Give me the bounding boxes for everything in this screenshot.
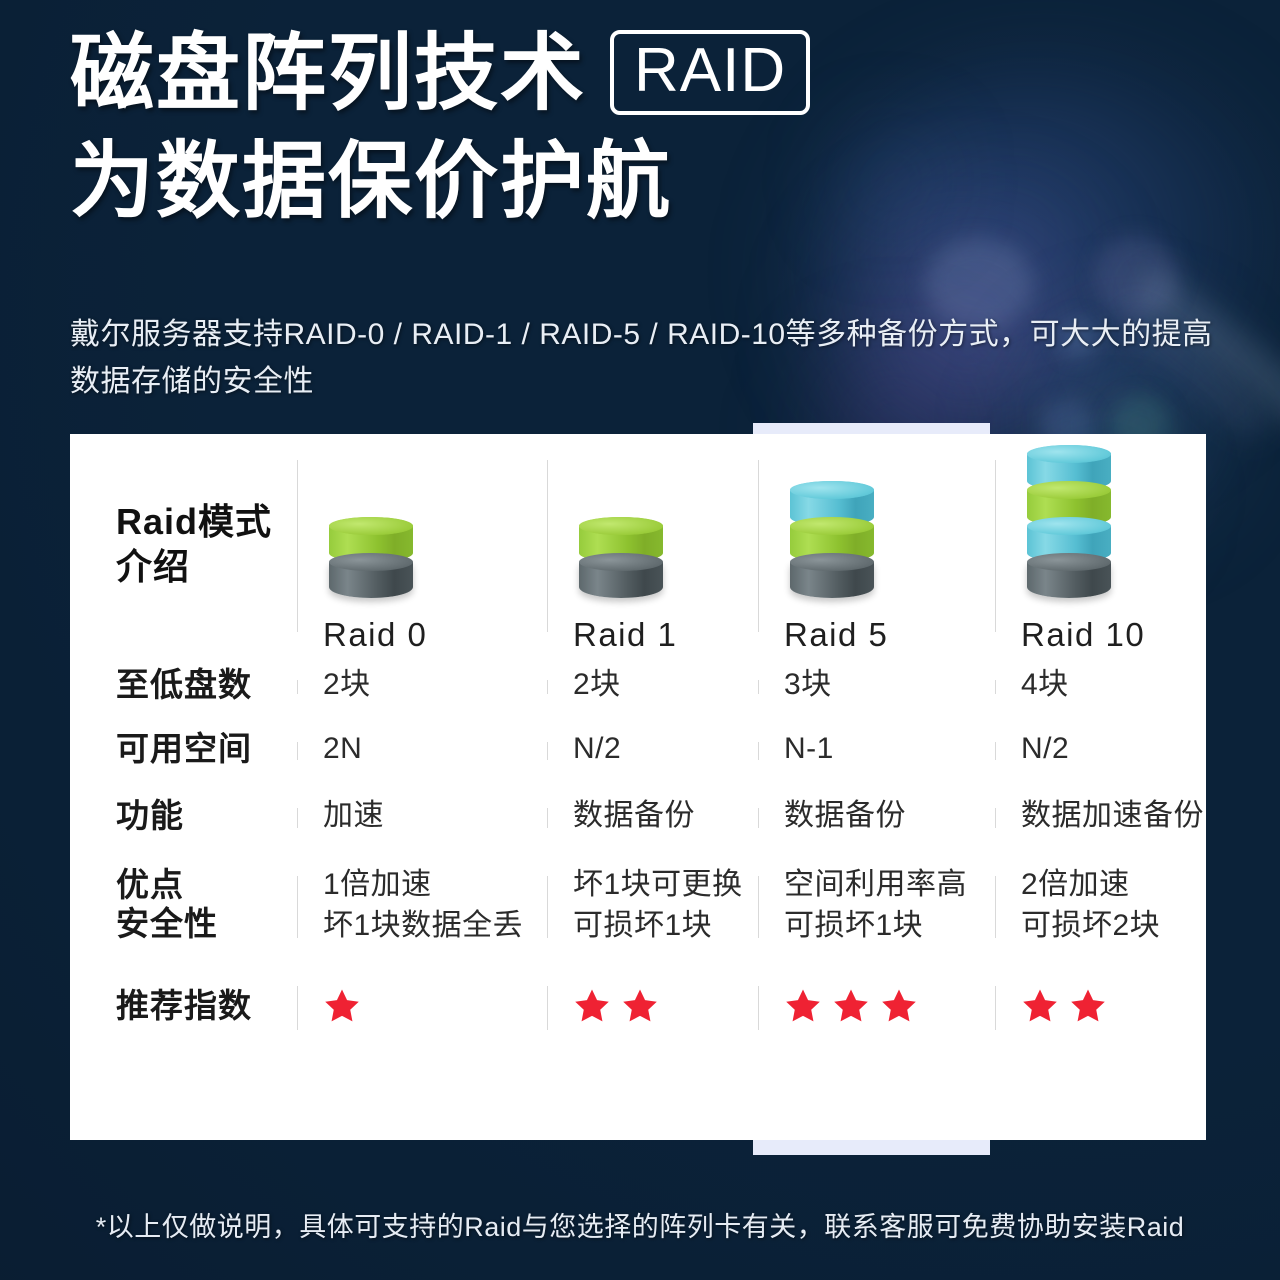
row-label-function-text: 功能: [96, 796, 297, 836]
mode-name-raid5: Raid 5: [784, 616, 888, 654]
star-icon: [1021, 987, 1059, 1025]
value-usable-space-raid1: N/2: [573, 728, 758, 769]
disk-icon-raid0: [323, 458, 413, 598]
value-advantage-raid10-line2: 可损坏2块: [1021, 909, 1160, 942]
value-advantage-raid1-line2: 可损坏1块: [573, 909, 712, 942]
row-label-min-disks-text: 至低盘数: [96, 665, 297, 705]
value-min-disks-raid5: 3块: [784, 664, 995, 705]
cell-advantage-raid5: 空间利用率高 可损坏1块: [758, 850, 995, 960]
row-label-advantage: 优点 安全性: [70, 850, 297, 960]
row-label-advantage-line2: 安全性: [116, 905, 218, 942]
column-header-raid0[interactable]: Raid 0: [297, 434, 547, 654]
row-label-rating: 推荐指数: [70, 960, 297, 1052]
cell-usable-space-raid10: N/2: [995, 716, 1206, 782]
star-rating-raid5: [784, 987, 995, 1025]
star-icon: [784, 987, 822, 1025]
star-rating-raid1: [573, 987, 758, 1025]
page-title: 磁盘阵列技术: [70, 31, 586, 115]
row-label-usable-space: 可用空间: [70, 716, 297, 782]
row-label-min-disks: 至低盘数: [70, 654, 297, 716]
value-function-raid1: 数据备份: [573, 795, 758, 836]
value-advantage-raid0-line1: 1倍加速: [323, 868, 432, 901]
disk-icon-raid5: [784, 458, 874, 598]
value-advantage-raid0-line2: 坏1块数据全丢: [323, 909, 523, 942]
column-header-raid1[interactable]: Raid 1: [547, 434, 758, 654]
page-subtitle: 为数据保价护航: [70, 139, 1220, 223]
value-advantage-raid1-line1: 坏1块可更换: [573, 868, 743, 901]
value-advantage-raid5-line1: 空间利用率高: [784, 868, 967, 901]
value-usable-space-raid0: 2N: [323, 728, 547, 769]
cell-rating-raid5: [758, 960, 995, 1052]
star-icon: [621, 987, 659, 1025]
value-advantage-raid10-line1: 2倍加速: [1021, 868, 1130, 901]
footer-note: *以上仅做说明，具体可支持的Raid与您选择的阵列卡有关，联系客服可免费协助安装…: [0, 1205, 1280, 1244]
value-min-disks-raid10: 4块: [1021, 664, 1206, 705]
value-min-disks-raid0: 2块: [323, 664, 547, 705]
star-icon: [832, 987, 870, 1025]
disk-icon-raid10: [1021, 458, 1111, 598]
cell-function-raid10: 数据加速备份: [995, 782, 1206, 850]
row-label-usable-space-text: 可用空间: [96, 729, 297, 769]
value-function-raid0: 加速: [323, 795, 547, 836]
mode-name-raid1: Raid 1: [573, 616, 677, 654]
value-usable-space-raid5: N-1: [784, 728, 995, 769]
row-label-function: 功能: [70, 782, 297, 850]
comparison-table: Raid模式 介绍 Raid 0 Raid 1: [70, 434, 1206, 1140]
cell-min-disks-raid5: 3块: [758, 654, 995, 716]
star-rating-raid0: [323, 987, 547, 1025]
column-header-raid5[interactable]: Raid 5: [758, 434, 995, 654]
cell-advantage-raid10: 2倍加速 可损坏2块: [995, 850, 1206, 960]
cell-min-disks-raid10: 4块: [995, 654, 1206, 716]
mode-name-raid10: Raid 10: [1021, 616, 1145, 654]
disk-icon-raid1: [573, 458, 663, 598]
cell-usable-space-raid5: N-1: [758, 716, 995, 782]
cell-rating-raid1: [547, 960, 758, 1052]
cell-advantage-raid0: 1倍加速 坏1块数据全丢: [297, 850, 547, 960]
title-row: 磁盘阵列技术 RAID: [70, 30, 1220, 115]
mode-name-raid0: Raid 0: [323, 616, 427, 654]
page-description: 戴尔服务器支持RAID-0 / RAID-1 / RAID-5 / RAID-1…: [70, 312, 1230, 405]
cell-min-disks-raid1: 2块: [547, 654, 758, 716]
cell-usable-space-raid0: 2N: [297, 716, 547, 782]
column-header-raid10[interactable]: Raid 10: [995, 434, 1206, 654]
star-rating-raid10: [1021, 987, 1206, 1025]
value-usable-space-raid10: N/2: [1021, 728, 1206, 769]
cell-usable-space-raid1: N/2: [547, 716, 758, 782]
value-advantage-raid5-line2: 可损坏1块: [784, 909, 923, 942]
row-label-intro: Raid模式 介绍: [70, 434, 297, 654]
header: 磁盘阵列技术 RAID 为数据保价护航: [70, 30, 1220, 223]
star-icon: [573, 987, 611, 1025]
cell-function-raid5: 数据备份: [758, 782, 995, 850]
raid-badge: RAID: [610, 30, 810, 115]
cell-rating-raid0: [297, 960, 547, 1052]
star-icon: [1069, 987, 1107, 1025]
star-icon: [323, 987, 361, 1025]
cell-min-disks-raid0: 2块: [297, 654, 547, 716]
cell-function-raid1: 数据备份: [547, 782, 758, 850]
cell-rating-raid10: [995, 960, 1206, 1052]
value-function-raid5: 数据备份: [784, 795, 995, 836]
value-min-disks-raid1: 2块: [573, 664, 758, 705]
value-function-raid10: 数据加速备份: [1021, 795, 1206, 836]
cell-advantage-raid1: 坏1块可更换 可损坏1块: [547, 850, 758, 960]
star-icon: [880, 987, 918, 1025]
row-label-intro-line2: 介绍: [116, 546, 190, 587]
row-label-rating-text: 推荐指数: [96, 986, 297, 1026]
row-label-advantage-line1: 优点: [116, 866, 184, 903]
row-label-intro-line1: Raid模式: [116, 501, 272, 542]
cell-function-raid0: 加速: [297, 782, 547, 850]
